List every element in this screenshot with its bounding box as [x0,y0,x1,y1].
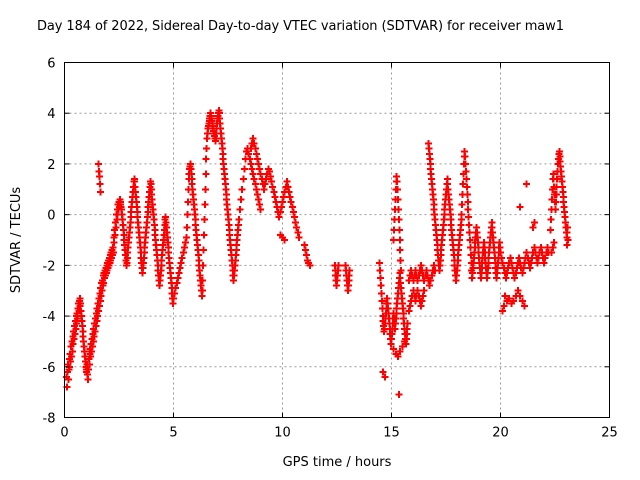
x-axis-label: GPS time / hours [283,455,392,470]
scatter-plot: 0510152025 -8-6-4-20246 GPS time / hours… [0,0,640,480]
y-tick-label: 6 [47,57,55,72]
data-points [63,107,571,398]
chart-page: Day 184 of 2022, Sidereal Day-to-day VTE… [0,0,640,480]
x-tick-label: 10 [274,426,291,441]
y-tick-label: -4 [43,310,56,325]
y-tick-label: 0 [47,209,55,224]
x-tick-label: 15 [383,426,400,441]
x-tick-label: 5 [169,426,177,441]
y-tick-label: -8 [43,412,56,427]
x-tick-labels: 0510152025 [60,426,617,441]
y-tick-label: -2 [43,259,56,274]
x-tick-label: 20 [492,426,509,441]
y-tick-label: 2 [47,158,55,173]
y-tick-label: -6 [43,361,56,376]
y-axis-label: SDTVAR / TECUs [9,187,24,294]
x-tick-label: 0 [60,426,68,441]
scatter-marker-group [63,107,571,398]
x-tick-label: 25 [601,426,618,441]
y-tick-label: 4 [47,107,55,122]
y-tick-labels: -8-6-4-20246 [43,57,56,427]
